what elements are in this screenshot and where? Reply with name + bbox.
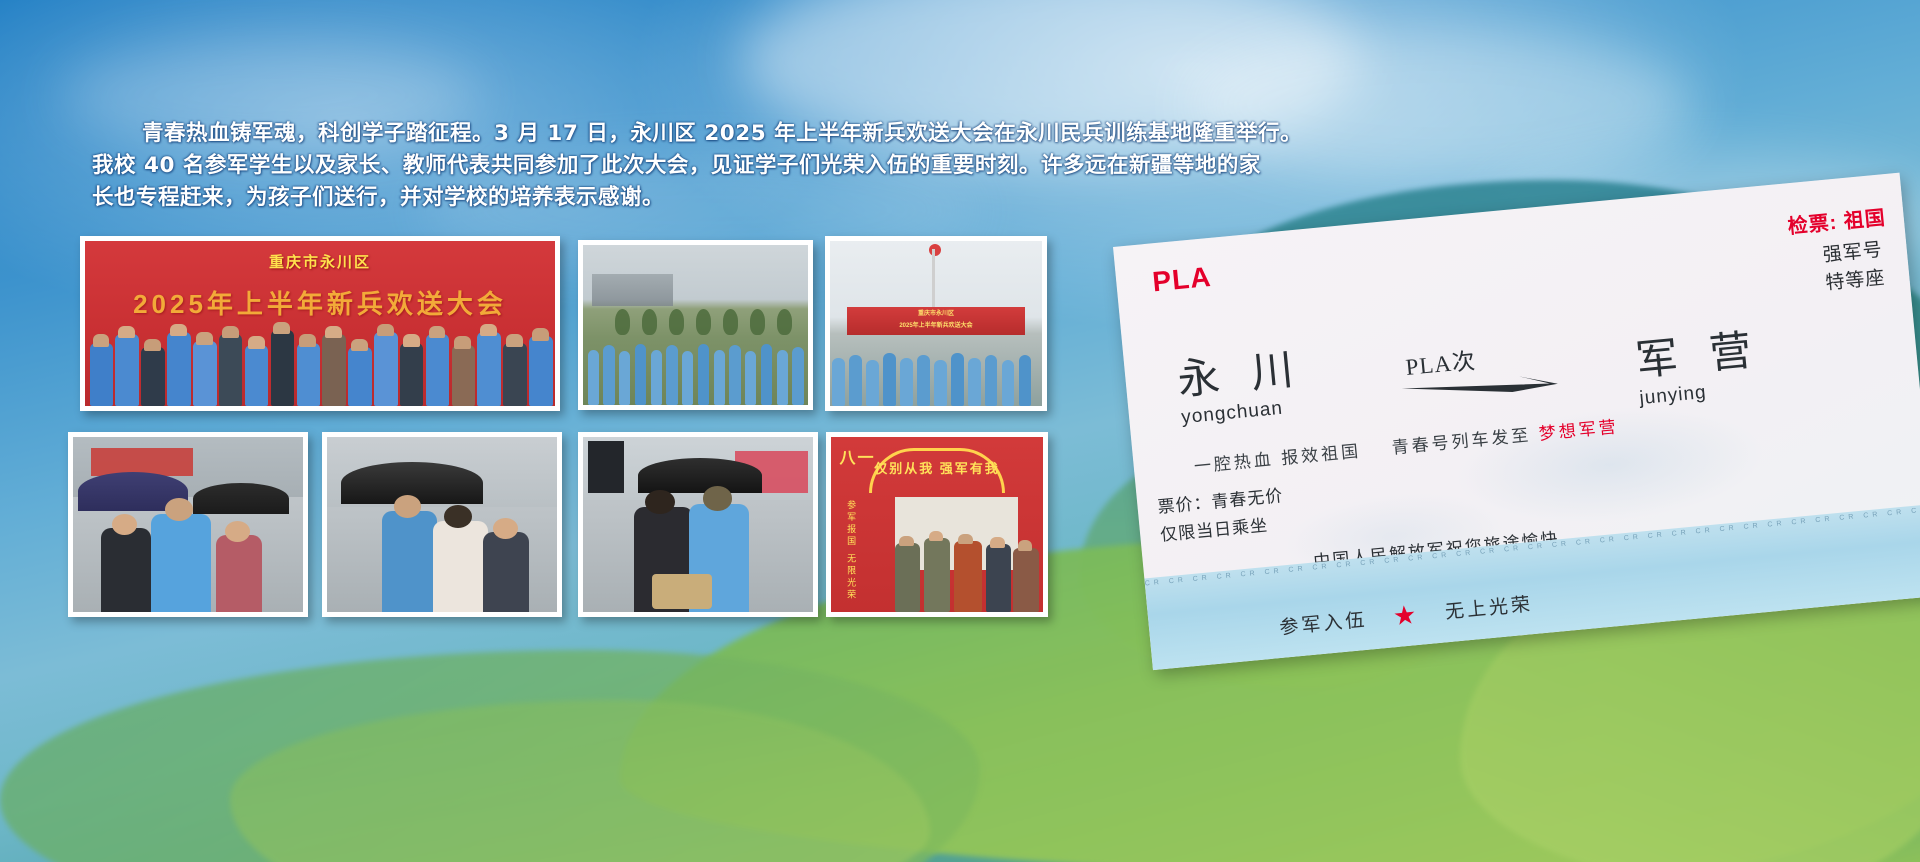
photo-couple-farewell-flowers[interactable] [578,432,818,617]
star-icon: ★ [1392,600,1421,628]
photo-ceremony-stage[interactable]: 重庆市永川区 2025年上半年新兵欢送大会 [825,236,1047,411]
photo-image [583,245,808,405]
ticket-destination-station: 军 营 junying [1634,329,1766,411]
photo-family-farewell-umbrella-blue[interactable] [68,432,308,617]
pla-logo-text: PLA [1151,261,1213,298]
umbrella-shape [638,458,762,493]
headline-paragraph: 青春热血铸军魂，科创学子踏征程。3 月 17 日，永川区 2025 年上半年新兵… [90,118,1480,214]
photo-family-farewell-umbrella-black[interactable] [322,432,562,617]
stage-backdrop: 重庆市永川区 2025年上半年新兵欢送大会 [830,241,1042,406]
crowd-figures [583,328,808,405]
banner-backdrop: 重庆市永川区 2025年上半年新兵欢送大会 [85,241,555,406]
red-gate-backdrop: 八一 仅别从我 强军有我 参军报国 无限光荣 [831,437,1043,612]
flag-pole [932,249,935,308]
ticket-fare-block: 票价：青春无价 仅限当日乘坐 [1156,482,1287,550]
photo-image: 重庆市永川区 2025年上半年新兵欢送大会 [830,241,1042,406]
headline-line-2: 我校 40 名参军学生以及家长、教师代表共同参加了此次大会，见证学子们光荣入伍的… [90,150,1480,182]
photo-image [73,437,303,612]
field-backdrop [583,245,808,405]
crowd-figures [831,532,1043,613]
photo-group-photo-banner[interactable]: 重庆市永川区 2025年上半年新兵欢送大会 [80,236,560,411]
photo-image: 八一 仅别从我 强军有我 参军报国 无限光荣 [831,437,1043,612]
poster-canvas: 青春热血铸军魂，科创学子踏征程。3 月 17 日，永川区 2025 年上半年新兵… [0,0,1920,862]
umbrella-shape [193,483,290,515]
train-ticket-card[interactable]: PLA 检票: 祖国 强军号 特等座 永 川 yongchuan PLA次 军 … [1113,173,1920,670]
photo-recruits-formation-field[interactable] [578,240,813,410]
ticket-origin-station: 永 川 yongchuan [1176,348,1308,430]
crowd-figures [85,304,555,406]
street-backdrop [327,437,557,612]
destination-station-cn: 军 营 [1634,329,1763,383]
photo-red-gate-group[interactable]: 八一 仅别从我 强军有我 参军报国 无限光荣 [826,432,1048,617]
headline-line-3: 长也专程赶来，为孩子们送行，并对学校的培养表示感谢。 [90,182,1480,214]
banner-title: 重庆市永川区 [85,251,555,272]
building-shape [592,274,673,306]
ticket-seat-class: 特等座 [1824,263,1886,296]
stage-banner-line-2: 2025年上半年新兵欢送大会 [847,319,1025,331]
ticket-train-number: PLA次 [1404,341,1477,381]
origin-station-cn: 永 川 [1176,348,1305,402]
photo-image [327,437,557,612]
photo-image [583,437,813,612]
street-backdrop [73,437,303,612]
stage-banner: 重庆市永川区 2025年上半年新兵欢送大会 [847,307,1025,335]
headline-line-1: 青春热血铸军魂，科创学子踏征程。3 月 17 日，永川区 2025 年上半年新兵… [90,118,1480,150]
stage-banner-line-1: 重庆市永川区 [847,307,1025,319]
photo-image: 重庆市永川区 2025年上半年新兵欢送大会 [85,241,555,406]
ticket-train-name: 强军号 [1821,235,1883,268]
gate-title: 仅别从我 强军有我 [831,458,1043,477]
street-backdrop [583,437,813,612]
crowd-figures [830,340,1042,406]
